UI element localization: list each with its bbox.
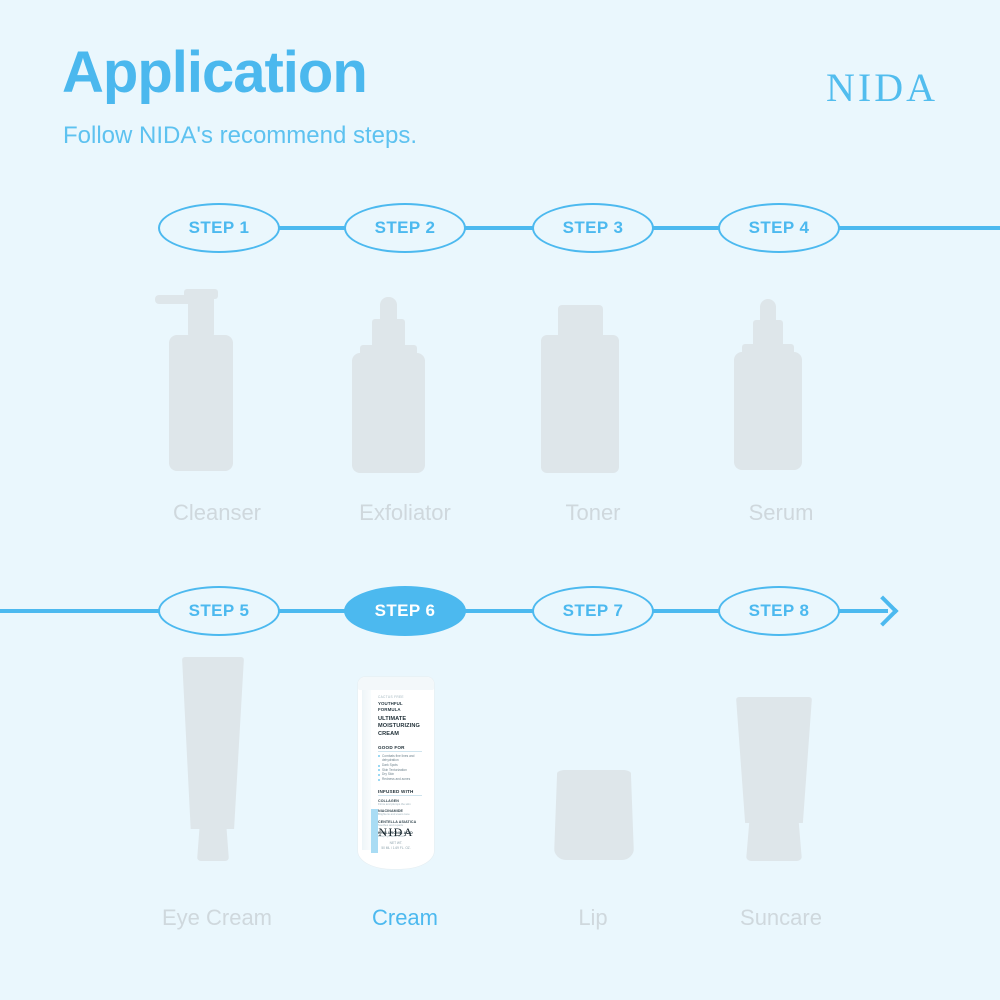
exfoliator-illustration — [310, 285, 500, 485]
tube-brand: NIDA — [358, 825, 434, 840]
divider — [378, 751, 422, 752]
page-subtitle: Follow NIDA's recommend steps. — [63, 122, 417, 150]
step-pill-2[interactable]: STEP 2 — [344, 203, 466, 253]
step-pill-7[interactable]: STEP 7 — [532, 586, 654, 636]
tube-cap — [197, 827, 229, 861]
bottle-body — [541, 335, 619, 473]
tube-ingredient-desc: Brightens and evens tone — [378, 813, 428, 817]
product-label-suncare: Suncare — [686, 905, 876, 931]
product-cell-suncare[interactable]: Suncare — [686, 655, 876, 855]
tube-formula: YOUTHFUL FORMULA — [378, 701, 428, 712]
product-label-serum: Serum — [686, 500, 876, 526]
serum-illustration — [686, 285, 876, 485]
step-flow-row-1: STEP 1 STEP 2 STEP 3 STEP 4 — [0, 203, 1000, 253]
bottle-body — [352, 353, 425, 473]
suncare-illustration — [686, 655, 876, 855]
step-flow-row-2: STEP 5 STEP 6 STEP 7 STEP 8 — [0, 586, 1000, 636]
pump-head — [184, 289, 218, 299]
cream-tube: CACTUS FREE YOUTHFUL FORMULA ULTIMATE MO… — [358, 677, 434, 869]
tube-good-for-heading: GOOD FOR — [378, 745, 428, 750]
tube-net-contents: NET WT. 50 ML / 1.69 FL. OZ. — [358, 841, 434, 851]
cleanser-illustration — [122, 285, 312, 485]
product-cell-eye-cream[interactable]: Eye Cream — [122, 655, 312, 855]
tube-infused-heading: INFUSED WITH — [378, 789, 428, 794]
eye-cream-illustration — [122, 655, 312, 855]
bottle-body — [734, 352, 802, 470]
tube-good-for-item: Redness and acnes — [378, 777, 428, 782]
tube-label-text: CACTUS FREE YOUTHFUL FORMULA ULTIMATE MO… — [378, 695, 428, 838]
step-pill-4[interactable]: STEP 4 — [718, 203, 840, 253]
flow-connector-entry — [0, 609, 162, 613]
step-pill-8[interactable]: STEP 8 — [718, 586, 840, 636]
arrow-right-icon — [867, 595, 898, 626]
tube-body — [736, 697, 812, 823]
tube-good-for-item: Combats fine lines and dehydration — [378, 754, 428, 763]
lip-jar — [554, 770, 634, 860]
product-label-lip: Lip — [498, 905, 688, 931]
tube-body — [182, 657, 244, 829]
tube-cap — [358, 677, 434, 690]
toner-illustration — [498, 285, 688, 485]
product-cell-cleanser[interactable]: Cleanser — [122, 285, 312, 485]
step-pill-1[interactable]: STEP 1 — [158, 203, 280, 253]
product-label-exfoliator: Exfoliator — [310, 500, 500, 526]
page-title: Application — [62, 44, 367, 102]
lip-illustration — [498, 655, 688, 855]
step-pill-6[interactable]: STEP 6 — [344, 586, 466, 636]
step-pill-3[interactable]: STEP 3 — [532, 203, 654, 253]
product-cell-exfoliator[interactable]: Exfoliator — [310, 285, 500, 485]
product-label-cleanser: Cleanser — [122, 500, 312, 526]
bottle-body — [169, 335, 233, 471]
product-cell-toner[interactable]: Toner — [498, 285, 688, 485]
tube-ingredient-desc: Firms and plumps the skin — [378, 803, 428, 807]
product-cell-cream[interactable]: CACTUS FREE YOUTHFUL FORMULA ULTIMATE MO… — [310, 677, 500, 877]
tube-cap — [746, 821, 802, 861]
brand-logo: NIDA — [826, 64, 938, 111]
tube-product-name: ULTIMATE MOISTURIZING CREAM — [378, 716, 428, 738]
cream-illustration: CACTUS FREE YOUTHFUL FORMULA ULTIMATE MO… — [310, 677, 500, 877]
tube-net-volume: 50 ML / 1.69 FL. OZ. — [358, 846, 434, 851]
application-steps-infographic: Application Follow NIDA's recommend step… — [0, 0, 1000, 1000]
tube-eyebrow: CACTUS FREE — [378, 695, 428, 699]
product-label-eye-cream: Eye Cream — [122, 905, 312, 931]
step-pill-5[interactable]: STEP 5 — [158, 586, 280, 636]
product-cell-lip[interactable]: Lip — [498, 655, 688, 855]
flow-connector-exit — [838, 226, 1000, 230]
product-cell-serum[interactable]: Serum — [686, 285, 876, 485]
divider — [378, 795, 422, 796]
product-label-cream: Cream — [310, 905, 500, 931]
product-label-toner: Toner — [498, 500, 688, 526]
